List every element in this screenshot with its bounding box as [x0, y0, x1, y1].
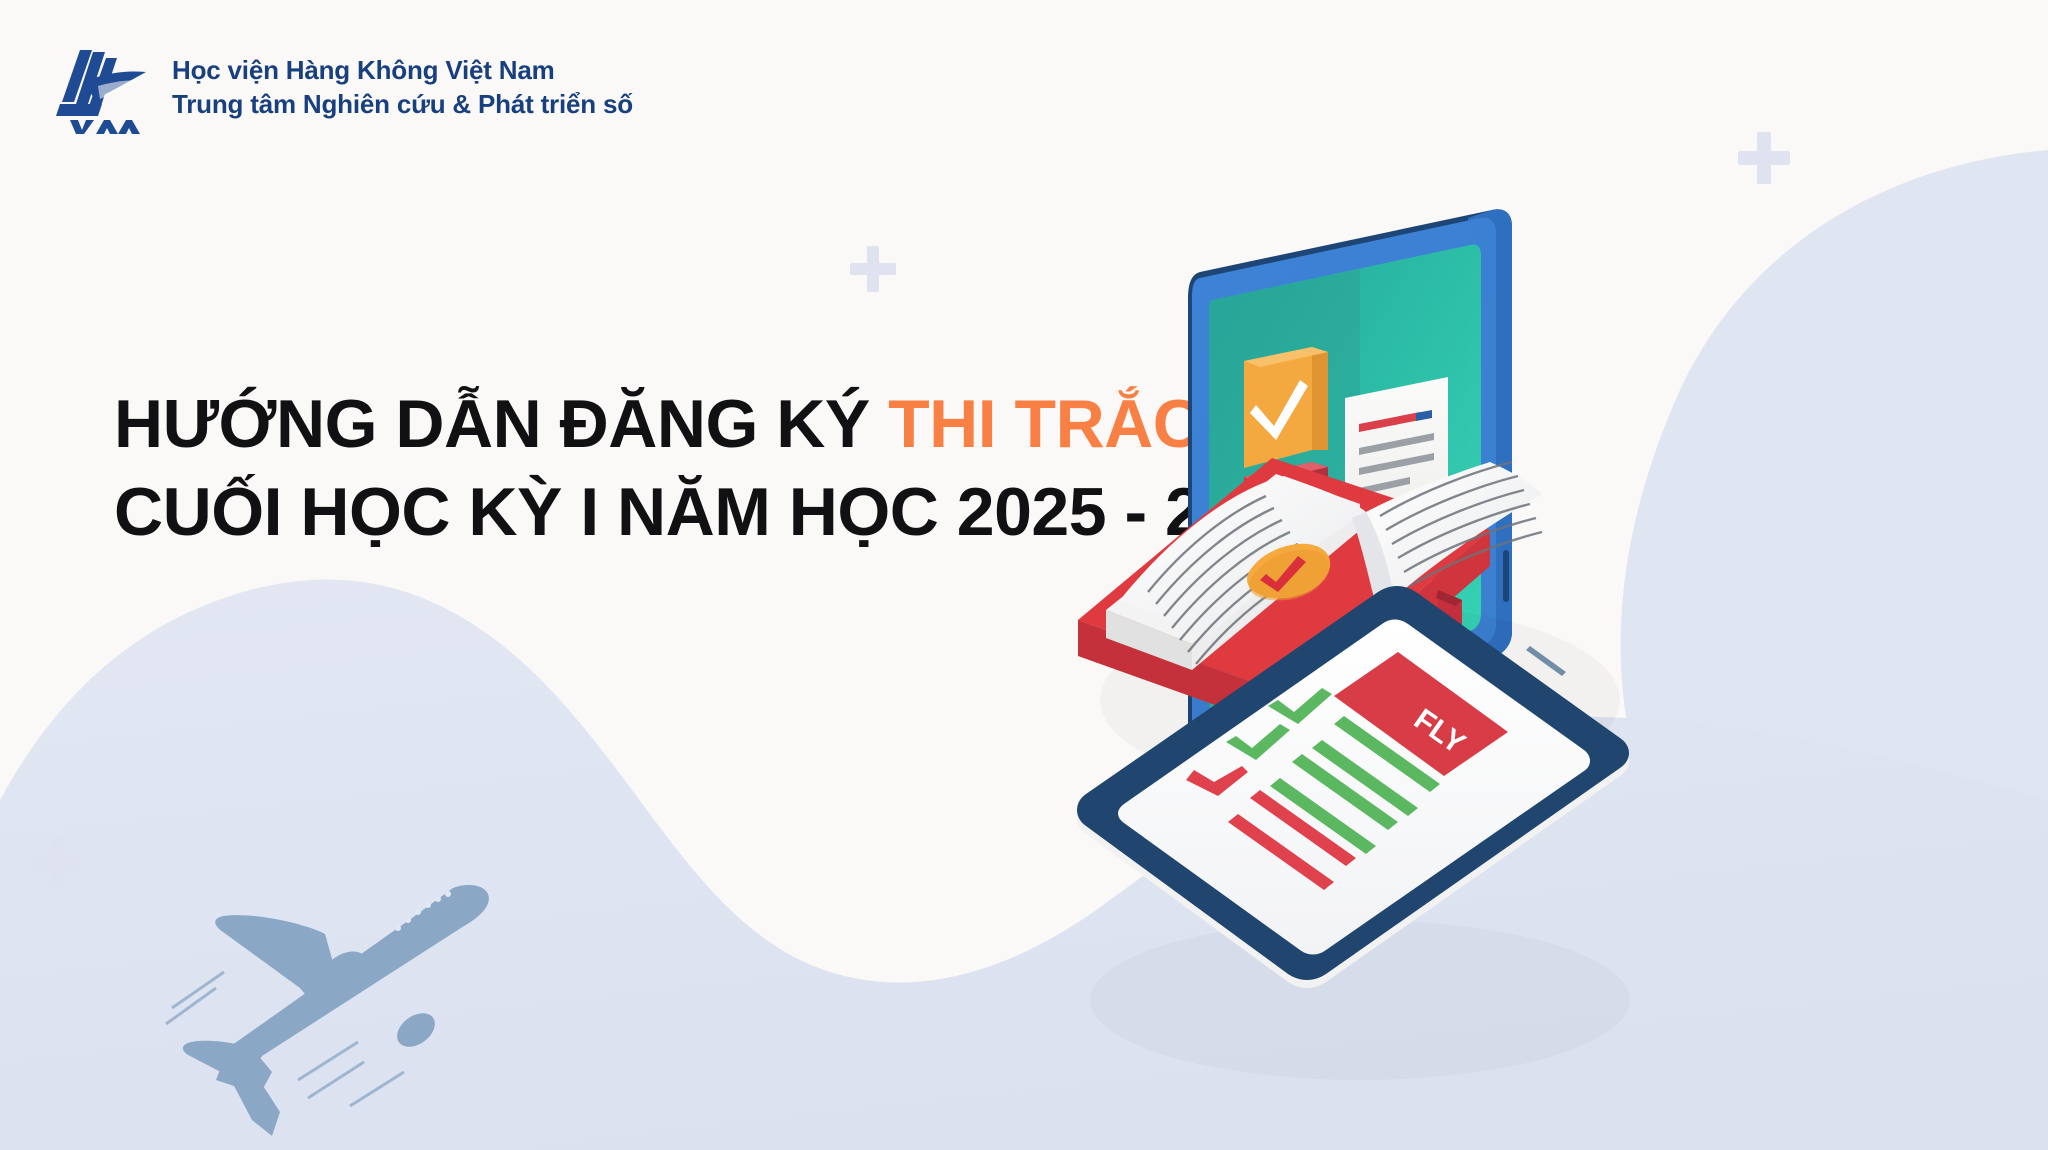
- plus-icon: [1738, 132, 1790, 184]
- monitor-side-button: [1503, 550, 1509, 602]
- logo-line-1: Học viện Hàng Không Việt Nam: [172, 54, 633, 88]
- airplane-icon: [112, 860, 532, 1150]
- poster-canvas: Học viện Hàng Không Việt Nam Trung tâm N…: [0, 0, 2048, 1150]
- plus-icon: [34, 838, 82, 886]
- answer-card-orange: [1244, 347, 1328, 468]
- exam-illustration: FLY: [1060, 200, 2048, 1150]
- brand-logo: Học viện Hàng Không Việt Nam Trung tâm N…: [54, 42, 633, 134]
- logo-line-2: Trung tâm Nghiên cứu & Phát triển số: [172, 88, 633, 122]
- vaa-bird-wing-logo: [54, 42, 150, 134]
- headline-line-1-main: HƯỚNG DẪN ĐĂNG KÝ: [114, 386, 888, 462]
- plus-icon: [850, 246, 896, 292]
